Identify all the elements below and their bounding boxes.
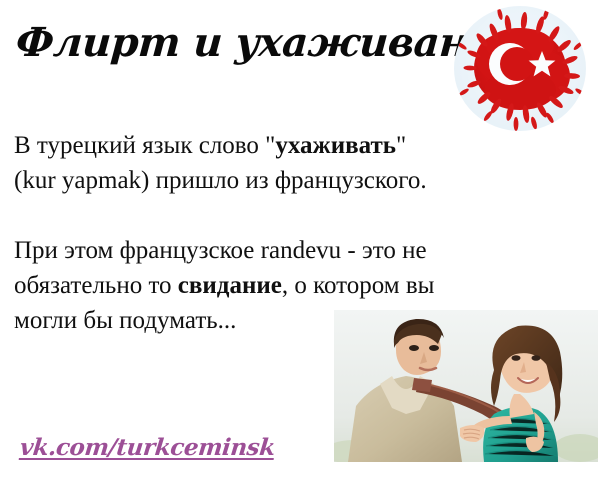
- p1-run-1: В турецкий язык слово ": [14, 132, 275, 159]
- p2-run-3: обязательно то: [14, 272, 178, 299]
- body-text: В турецкий язык слово "ухаживать" (kur y…: [14, 128, 454, 338]
- flag-splatter-artwork: [456, 8, 585, 131]
- p2-run-5: , о котором вы: [282, 272, 435, 299]
- p1-run-5: (kur yapmak) пришло из французского.: [14, 167, 427, 194]
- page-title: Флирт и ухаживание: [14, 18, 447, 68]
- p1-bold-word: ухаживать: [275, 132, 396, 159]
- poster-canvas: Флирт и ухаживание: [0, 0, 604, 485]
- paragraph-1: В турецкий язык слово "ухаживать" (kur y…: [14, 128, 454, 198]
- p1-run-3: ": [396, 132, 406, 159]
- couple-flirting-photo: [334, 310, 598, 462]
- vk-profile-link[interactable]: vk.com/turkceminsk: [19, 434, 277, 461]
- p2-run-7: могли бы подумать...: [14, 307, 236, 334]
- turkish-flag-badge: [454, 6, 586, 131]
- p2-bold-word: свидание: [178, 272, 282, 299]
- p2-run-1: При этом французское randevu - это не: [14, 237, 427, 264]
